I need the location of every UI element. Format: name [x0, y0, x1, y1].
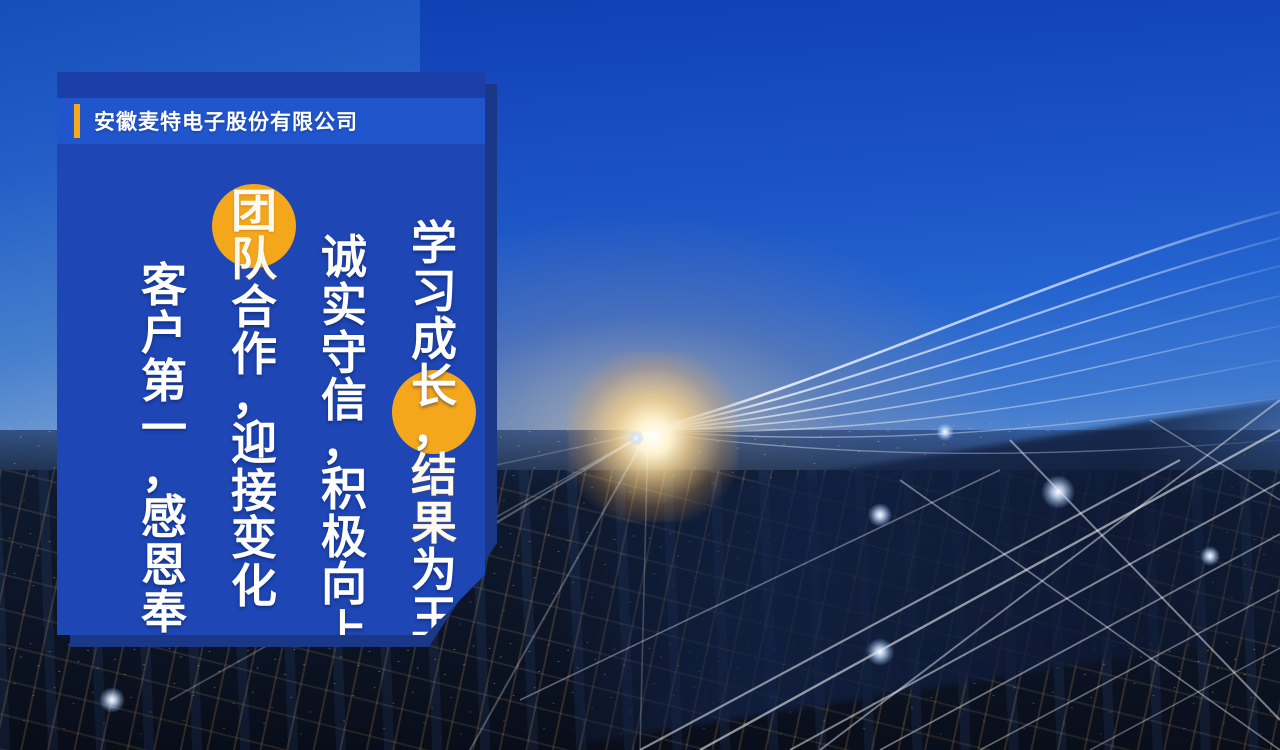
slogan-char: ， — [142, 453, 186, 493]
panel-top-band — [57, 72, 485, 98]
central-light-burst — [568, 352, 738, 522]
slogan-char: 作 — [231, 331, 277, 379]
slogan-char: 极 — [321, 514, 367, 562]
slogan-char: 奉 — [141, 589, 187, 637]
slogan-char: ， — [322, 425, 366, 465]
slogan-char: 变 — [231, 515, 277, 563]
slogan-char: 诚 — [321, 234, 367, 282]
slogan-char: 迎 — [231, 420, 277, 468]
slogan-char: 信 — [321, 377, 367, 425]
slogan-char: 积 — [321, 466, 367, 514]
culture-panel: 安徽麦特电子股份有限公司 学 习 成 长 ， 结 果 为 王 诚 实 守 — [57, 72, 485, 635]
slogan-char: 合 — [231, 284, 277, 332]
slogan-char: 果 — [411, 500, 457, 548]
slogan-char: 习 — [411, 268, 457, 316]
slogan-column-4: 客 户 第 一 ， 感 恩 奉 献 — [119, 158, 209, 628]
slogan-char: 恩 — [141, 542, 187, 590]
slogan-char: 为 — [411, 547, 457, 595]
slogan-char: 第 — [141, 358, 187, 406]
slogan-char: 化 — [231, 563, 277, 611]
slogan-char: 长 — [411, 363, 457, 411]
slogan-columns: 学 习 成 长 ， 结 果 为 王 诚 实 守 信 ， 积 极 向 上 — [57, 158, 485, 628]
slogan-char: ， — [412, 411, 456, 451]
slogan-char: 学 — [411, 220, 457, 268]
slogan-char: ， — [232, 379, 276, 419]
orange-accent-bar — [74, 104, 80, 138]
company-name-title: 安徽麦特电子股份有限公司 — [94, 106, 358, 136]
slogan-char: 感 — [141, 494, 187, 542]
slogan-column-1: 学 习 成 长 ， 结 果 为 王 — [389, 158, 479, 628]
slogan-char: 向 — [321, 561, 367, 609]
slogan-char: 一 — [141, 405, 187, 453]
slogan-char: 实 — [321, 282, 367, 330]
slogan-column-3: 团 队 合 作 ， 迎 接 变 化 — [209, 158, 299, 628]
slogan-char: 成 — [411, 316, 457, 364]
panel-title-bar: 安徽麦特电子股份有限公司 — [57, 98, 485, 144]
slogan-char: 守 — [321, 330, 367, 378]
slogan-column-2: 诚 实 守 信 ， 积 极 向 上 — [299, 158, 389, 628]
slogan-char: 团 — [231, 188, 277, 236]
slogan-char: 队 — [231, 236, 277, 284]
banner-stage: 安徽麦特电子股份有限公司 学 习 成 长 ， 结 果 为 王 诚 实 守 — [0, 0, 1280, 750]
slogan-char: 户 — [141, 310, 187, 358]
slogan-char: 接 — [231, 468, 277, 516]
slogan-char: 结 — [411, 452, 457, 500]
slogan-char: 客 — [141, 262, 187, 310]
